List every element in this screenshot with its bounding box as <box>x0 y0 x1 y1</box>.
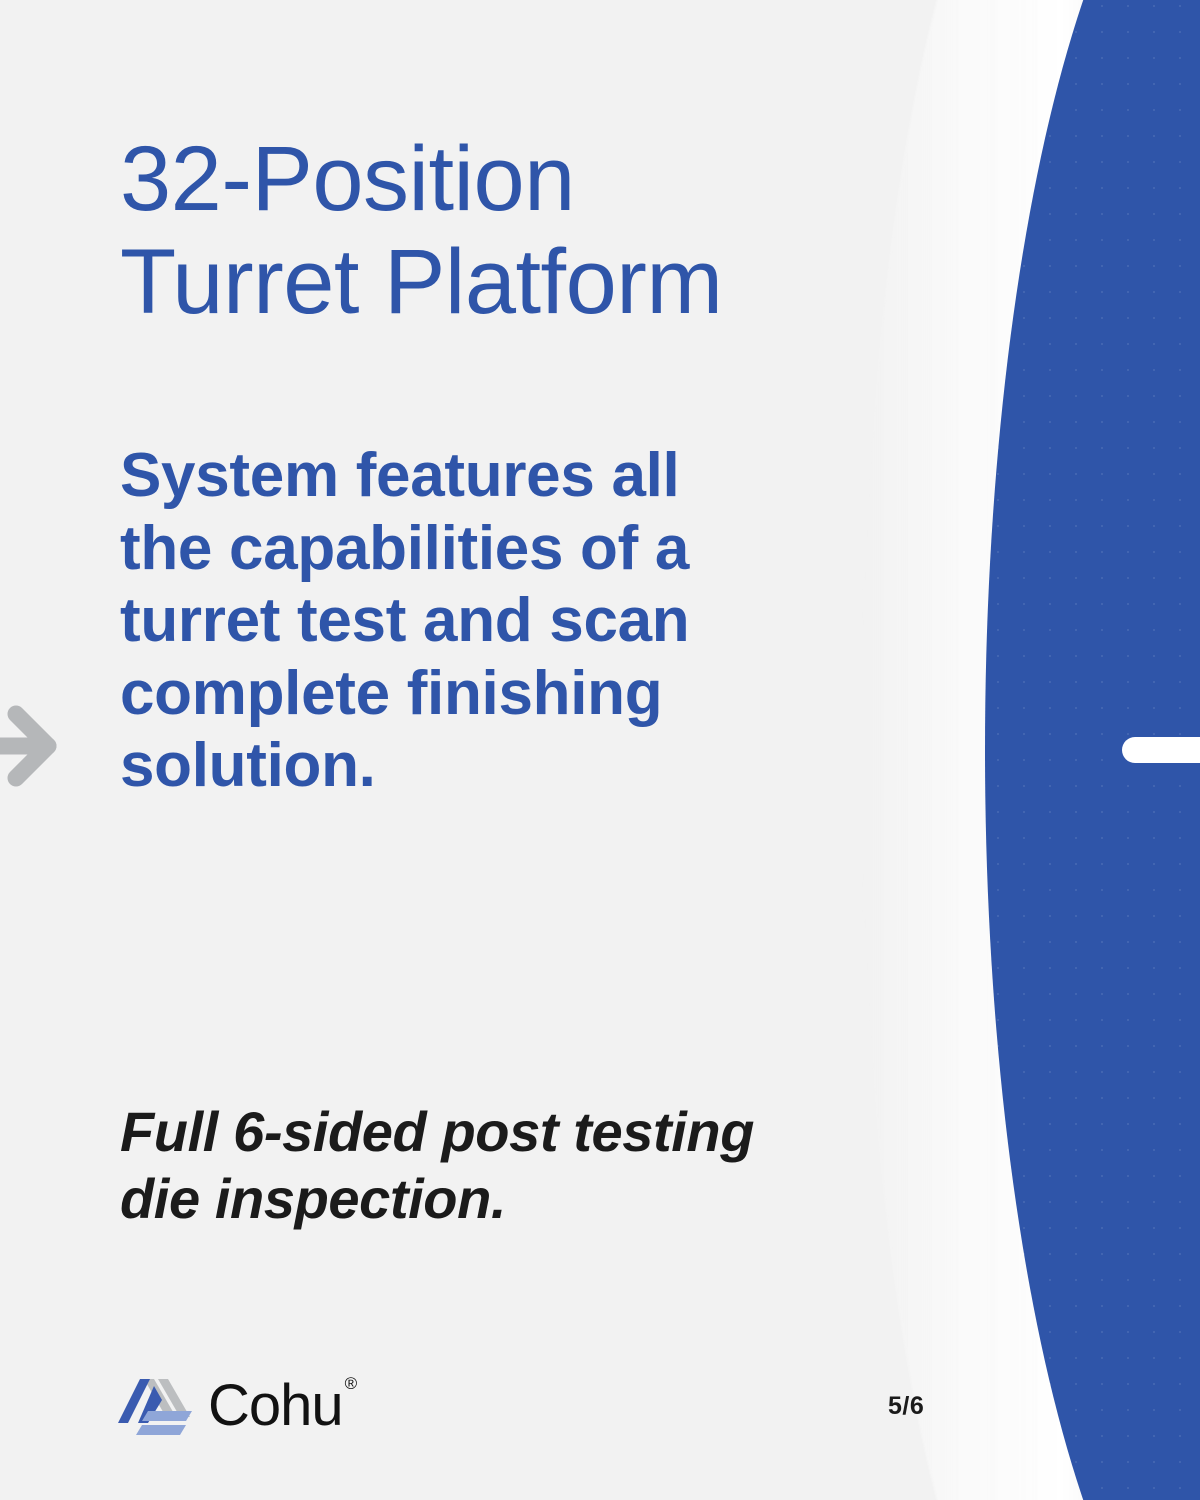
arrow-right-icon <box>0 700 70 792</box>
cohu-logo-mark-icon <box>118 1377 198 1439</box>
page-indicator: 5/6 <box>888 1392 924 1421</box>
registered-trademark-icon: ® <box>345 1374 357 1393</box>
slide-canvas: 32-Position Turret Platform System featu… <box>0 0 1200 1500</box>
page-title: 32-Position Turret Platform <box>120 128 1000 334</box>
arrow-tail-bar-icon <box>1122 737 1200 763</box>
cohu-wordmark: Cohu® <box>208 1377 354 1435</box>
caption-text: Full 6-sided post testing die inspection… <box>120 1098 960 1232</box>
cohu-wordmark-text: Cohu <box>208 1373 343 1438</box>
feature-statement: System features all the capabilities of … <box>120 440 880 803</box>
cohu-logo: Cohu® <box>118 1372 354 1444</box>
